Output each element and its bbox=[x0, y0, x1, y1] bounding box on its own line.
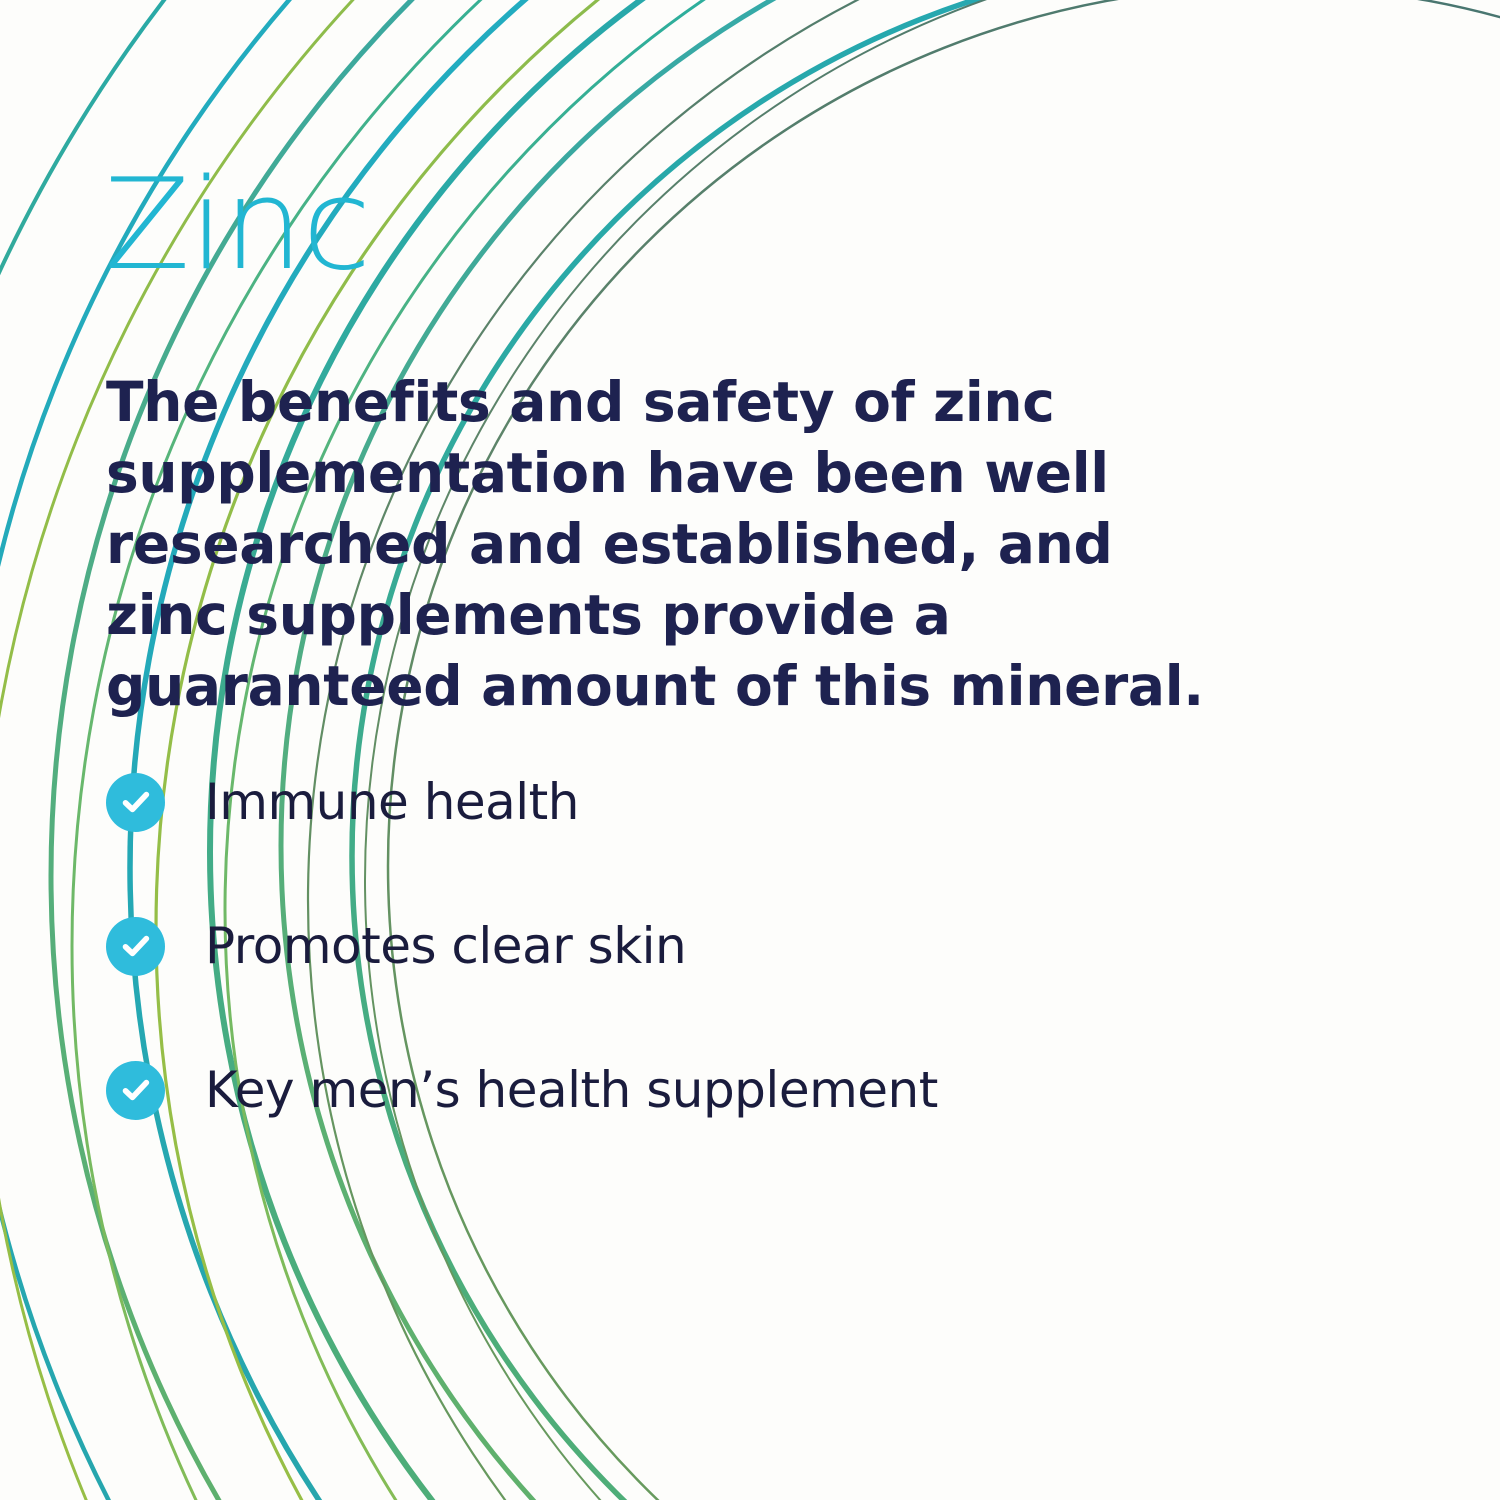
benefits-list: Immune health Promotes clear skin Key me… bbox=[106, 772, 938, 1120]
product-benefit-graphic: Zinc The benefits and safety of zinc sup… bbox=[0, 0, 1500, 1500]
list-item-label: Promotes clear skin bbox=[205, 921, 686, 971]
list-item-label: Key men’s health supplement bbox=[205, 1065, 938, 1115]
list-item: Immune health bbox=[106, 772, 938, 832]
check-icon bbox=[106, 1061, 165, 1120]
check-icon bbox=[106, 917, 165, 976]
list-item: Key men’s health supplement bbox=[106, 1060, 938, 1120]
check-icon bbox=[106, 773, 165, 832]
list-item-label: Immune health bbox=[205, 777, 579, 827]
page-title: Zinc bbox=[104, 162, 370, 288]
list-item: Promotes clear skin bbox=[106, 916, 938, 976]
body-paragraph: The benefits and safety of zinc suppleme… bbox=[106, 367, 1216, 722]
